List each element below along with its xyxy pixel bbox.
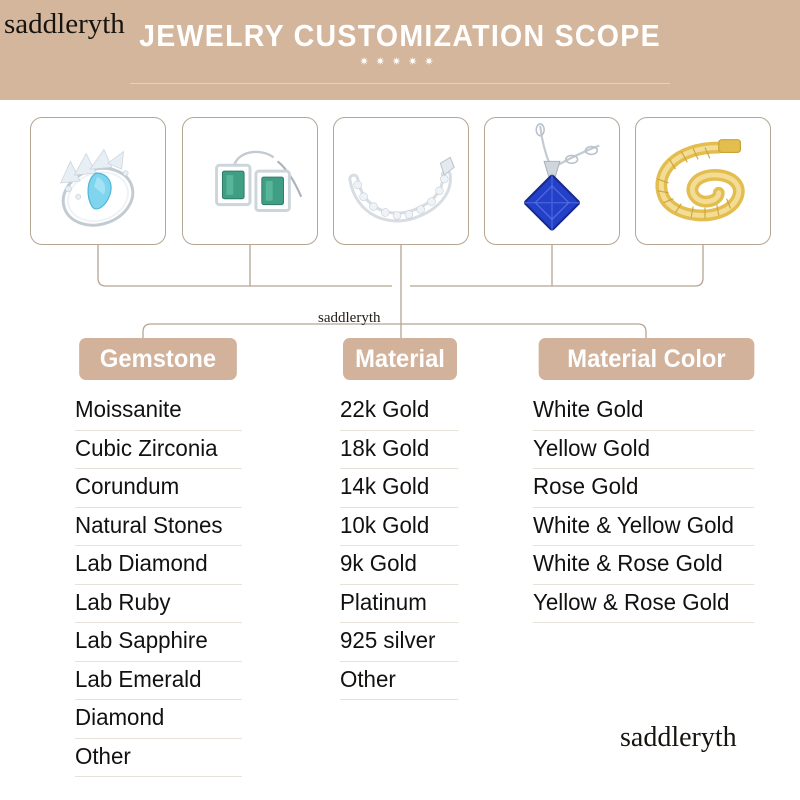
option-item[interactable]: Other	[340, 662, 458, 701]
option-item[interactable]: Yellow Gold	[533, 431, 754, 470]
option-item[interactable]: Yellow & Rose Gold	[533, 585, 754, 624]
option-item[interactable]: Cubic Zirconia	[75, 431, 242, 470]
option-item[interactable]: Lab Sapphire	[75, 623, 242, 662]
option-list-material-color: White GoldYellow GoldRose GoldWhite & Ye…	[533, 392, 761, 623]
option-item[interactable]: Rose Gold	[533, 469, 754, 508]
option-item[interactable]: 925 silver	[340, 623, 458, 662]
product-card-necklace	[484, 117, 620, 245]
watermark-middle: saddleryth	[318, 310, 380, 327]
necklace-sapphire-icon	[485, 118, 619, 244]
cuban-chain-gold-icon	[636, 118, 770, 244]
option-item[interactable]: Other	[75, 739, 242, 778]
connector-card-chain	[410, 245, 703, 286]
product-card-bracelet	[333, 117, 469, 245]
option-item[interactable]: 22k Gold	[340, 392, 458, 431]
option-item[interactable]: White & Yellow Gold	[533, 508, 754, 547]
option-item[interactable]: Platinum	[340, 585, 458, 624]
option-item[interactable]: 9k Gold	[340, 546, 458, 585]
option-item[interactable]: Diamond	[75, 700, 242, 739]
option-item[interactable]: Moissanite	[75, 392, 242, 431]
star-divider-icon: ✷✷✷✷✷	[0, 56, 800, 68]
ring-aquamarine-icon	[31, 118, 165, 244]
option-item[interactable]: Lab Emerald	[75, 662, 242, 701]
earrings-emerald-icon	[183, 118, 317, 244]
product-card-chain	[635, 117, 771, 245]
option-item[interactable]: 14k Gold	[340, 469, 458, 508]
option-item[interactable]: Lab Diamond	[75, 546, 242, 585]
category-header-gemstone[interactable]: Gemstone	[79, 338, 237, 380]
page-title: JEWELRY CUSTOMIZATION SCOPE	[32, 18, 768, 54]
category-header-material-color[interactable]: Material Color	[539, 338, 755, 380]
option-list-material: 22k Gold18k Gold14k Gold10k Gold9k GoldP…	[340, 392, 462, 700]
option-item[interactable]: 18k Gold	[340, 431, 458, 470]
option-item[interactable]: Natural Stones	[75, 508, 242, 547]
connector-to-material-color	[401, 324, 646, 338]
tennis-bracelet-icon	[334, 118, 468, 244]
product-card-ring	[30, 117, 166, 245]
product-card-earrings	[182, 117, 318, 245]
option-item[interactable]: White Gold	[533, 392, 754, 431]
watermark-bottom: saddleryth	[620, 722, 737, 754]
watermark-top: saddleryth	[4, 8, 125, 41]
option-item[interactable]: Corundum	[75, 469, 242, 508]
category-header-material[interactable]: Material	[343, 338, 457, 380]
option-item[interactable]: White & Rose Gold	[533, 546, 754, 585]
header-rule	[130, 83, 670, 84]
option-list-gemstone: MoissaniteCubic ZirconiaCorundumNatural …	[75, 392, 247, 777]
option-item[interactable]: Lab Ruby	[75, 585, 242, 624]
connector-card-ring	[98, 245, 392, 286]
option-item[interactable]: 10k Gold	[340, 508, 458, 547]
